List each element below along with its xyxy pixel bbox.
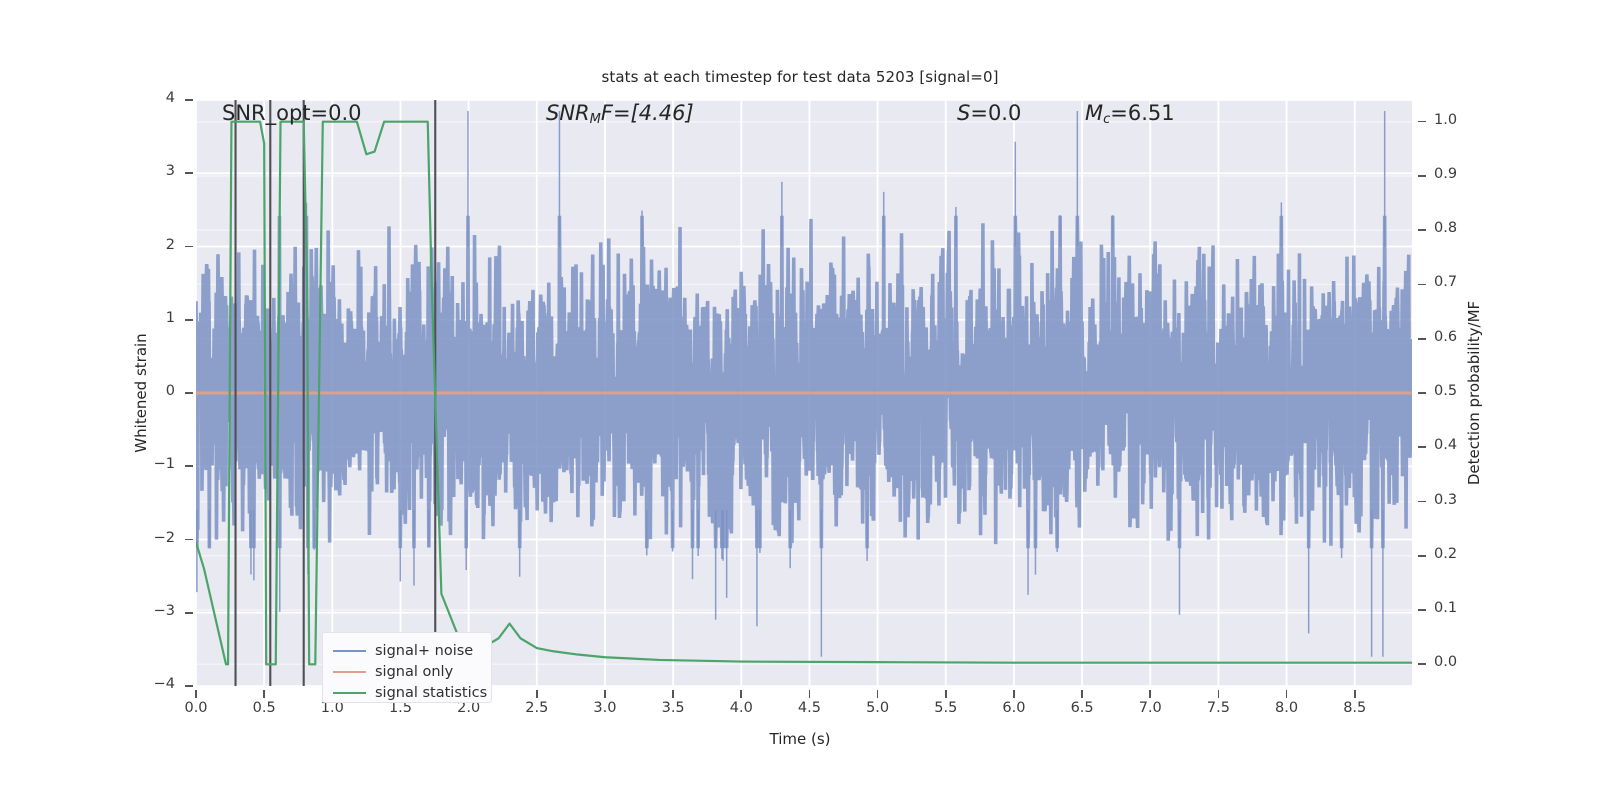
legend-swatch-signal-noise <box>333 650 366 652</box>
annotation-mc-pre: M <box>1085 101 1103 125</box>
annotation-s-post: =0.0 <box>970 101 1021 125</box>
y-tick-label-right: 0.7 <box>1434 274 1457 290</box>
y-tick-mark-right <box>1418 229 1426 231</box>
y-tick-mark-left <box>185 465 193 467</box>
y-tick-mark-left <box>185 172 193 174</box>
y-tick-label-right: 0.2 <box>1434 546 1457 562</box>
y-tick-label-right: 0.4 <box>1434 437 1457 453</box>
annotation-snr-mf-post: F=[4.46] <box>601 101 694 125</box>
y-tick-label-right: 1.0 <box>1434 112 1457 128</box>
y-tick-label-right: 0.8 <box>1434 220 1457 236</box>
legend-label-signal-noise: signal+ noise <box>375 643 473 659</box>
y-tick-label-right: 0.5 <box>1434 383 1457 399</box>
noise-core-band <box>196 216 1412 549</box>
x-tick-mark <box>945 690 947 698</box>
x-tick-mark <box>1149 690 1151 698</box>
y-tick-mark-left <box>185 685 193 687</box>
x-tick-mark <box>536 690 538 698</box>
y-tick-label-left: 1 <box>0 310 175 326</box>
annotation-snr-mf-pre: SNR <box>546 101 590 125</box>
y-tick-mark-right <box>1418 392 1426 394</box>
y-tick-mark-left <box>185 246 193 248</box>
y-tick-label-left: 3 <box>0 163 175 179</box>
x-tick-mark <box>263 690 265 698</box>
y-axis-title-right: Detection probability/MF <box>1465 301 1483 485</box>
y-tick-mark-right <box>1418 609 1426 611</box>
chart-title: stats at each timestep for test data 520… <box>0 68 1600 86</box>
annotation-snr-opt-text: SNR_opt=0.0 <box>222 101 362 125</box>
plot-svg <box>196 100 1412 686</box>
x-tick-mark <box>672 690 674 698</box>
x-tick-mark <box>1218 690 1220 698</box>
annotation-s: S=0.0 <box>957 101 1021 125</box>
x-tick-mark <box>1354 690 1356 698</box>
y-tick-mark-left <box>185 539 193 541</box>
annotation-snr-mf-sub: M <box>590 112 601 127</box>
x-tick-mark <box>195 690 197 698</box>
annotation-snr-mf: SNRMF=[4.46] <box>546 101 694 127</box>
y-tick-mark-right <box>1418 663 1426 665</box>
annotation-s-pre: S <box>957 101 970 125</box>
y-tick-label-left: 2 <box>0 237 175 253</box>
annotation-mc-post: =6.51 <box>1110 101 1174 125</box>
legend-swatch-signal-only <box>333 671 366 673</box>
y-axis-title: Whitened strain <box>132 333 150 452</box>
y-tick-label-right: 0.3 <box>1434 492 1457 508</box>
y-tick-mark-right <box>1418 555 1426 557</box>
y-tick-mark-left <box>185 99 193 101</box>
y-tick-label-left: −3 <box>0 603 175 619</box>
legend-label-signal-only: signal only <box>375 664 453 680</box>
y-tick-mark-right <box>1418 338 1426 340</box>
x-tick-mark <box>1013 690 1015 698</box>
annotation-snr-opt: SNR_opt=0.0 <box>222 101 362 125</box>
x-tick-mark <box>604 690 606 698</box>
legend-swatch-signal-statistics <box>333 692 366 694</box>
y-tick-mark-right <box>1418 284 1426 286</box>
annotation-mc: Mc=6.51 <box>1085 101 1175 127</box>
legend-item[interactable]: signal+ noise <box>323 640 491 661</box>
y-tick-mark-right <box>1418 501 1426 503</box>
x-tick-mark <box>809 690 811 698</box>
y-tick-label-right: 0.1 <box>1434 600 1457 616</box>
y-tick-label-right: 0.9 <box>1434 166 1457 182</box>
y-tick-label-left: −2 <box>0 530 175 546</box>
y-tick-mark-right <box>1418 121 1426 123</box>
legend-item[interactable]: signal statistics <box>323 682 491 703</box>
y-tick-label-right: 0.0 <box>1434 654 1457 670</box>
y-tick-mark-left <box>185 392 193 394</box>
x-tick-mark <box>877 690 879 698</box>
x-tick-mark <box>740 690 742 698</box>
figure-canvas: stats at each timestep for test data 520… <box>0 0 1600 800</box>
plot-area <box>196 100 1412 686</box>
series-signal-noise <box>196 111 1412 657</box>
y-tick-label-left: 4 <box>0 90 175 106</box>
y-tick-label-right: 0.6 <box>1434 329 1457 345</box>
x-tick-label: 8.5 <box>1315 700 1395 716</box>
legend-label-signal-statistics: signal statistics <box>375 685 487 701</box>
y-tick-label-left: −4 <box>0 676 175 692</box>
legend-item[interactable]: signal only <box>323 661 491 682</box>
x-tick-mark <box>1286 690 1288 698</box>
y-tick-label-left: −1 <box>0 456 175 472</box>
x-tick-mark <box>1081 690 1083 698</box>
x-axis-title: Time (s) <box>0 730 1600 748</box>
y-tick-mark-left <box>185 319 193 321</box>
y-tick-mark-left <box>185 612 193 614</box>
chart-legend[interactable]: signal+ noise signal only signal statist… <box>322 632 492 703</box>
y-tick-mark-right <box>1418 175 1426 177</box>
y-tick-mark-right <box>1418 446 1426 448</box>
